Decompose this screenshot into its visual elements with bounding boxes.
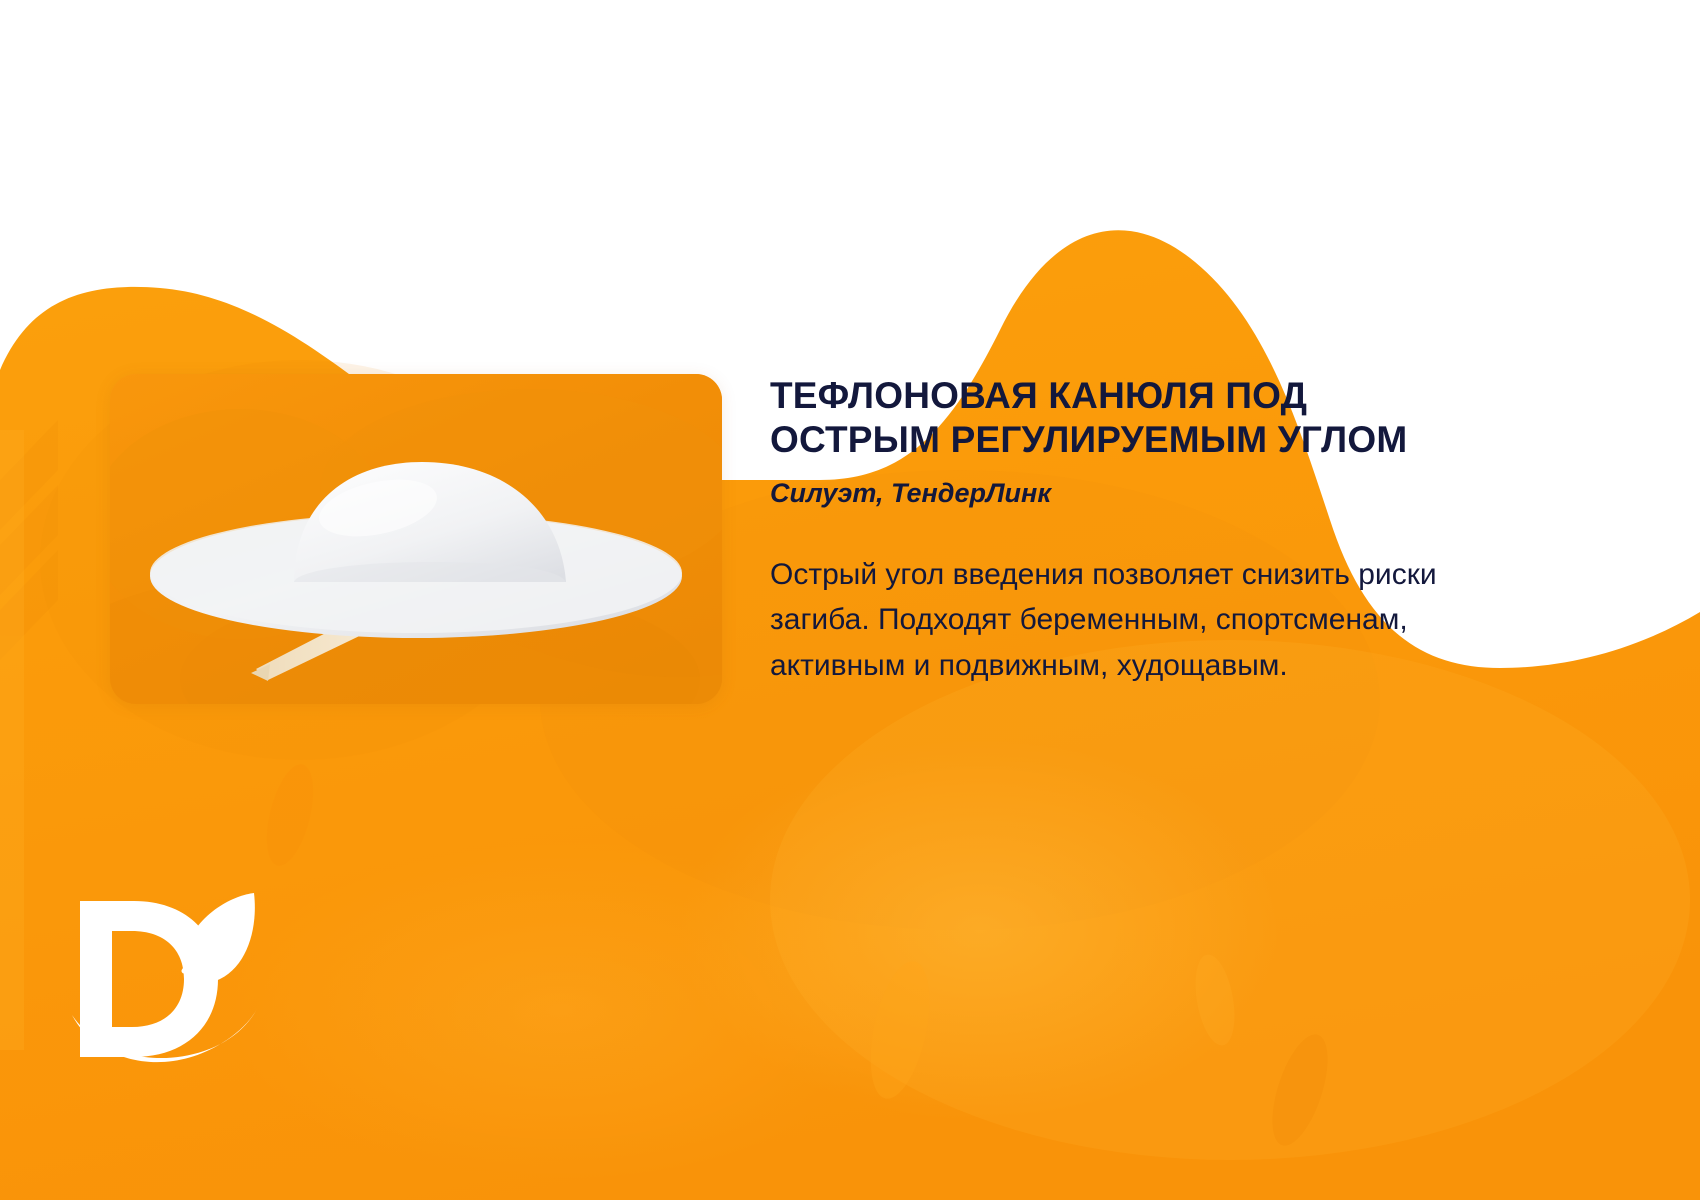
bg-left-light-band [0, 430, 24, 1050]
subtitle: Силуэт, ТендерЛинк [770, 477, 1530, 509]
body-description: Острый угол введения позволяет снизить р… [770, 552, 1522, 689]
bg-glow-bottom-left [230, 840, 890, 1180]
slide-canvas: ТЕФЛОНОВАЯ КАНЮЛЯ ПОД ОСТРЫМ РЕГУЛИРУЕМЫ… [0, 0, 1700, 1200]
page-title: ТЕФЛОНОВАЯ КАНЮЛЯ ПОД ОСТРЫМ РЕГУЛИРУЕМЫ… [770, 374, 1470, 461]
copy-block: ТЕФЛОНОВАЯ КАНЮЛЯ ПОД ОСТРЫМ РЕГУЛИРУЕМЫ… [770, 374, 1530, 688]
product-image-card[interactable] [110, 374, 722, 704]
logo-leaf-icon [184, 893, 255, 983]
d-leaf-logo[interactable] [72, 893, 262, 1068]
cannula-dome-illustration [110, 374, 722, 704]
